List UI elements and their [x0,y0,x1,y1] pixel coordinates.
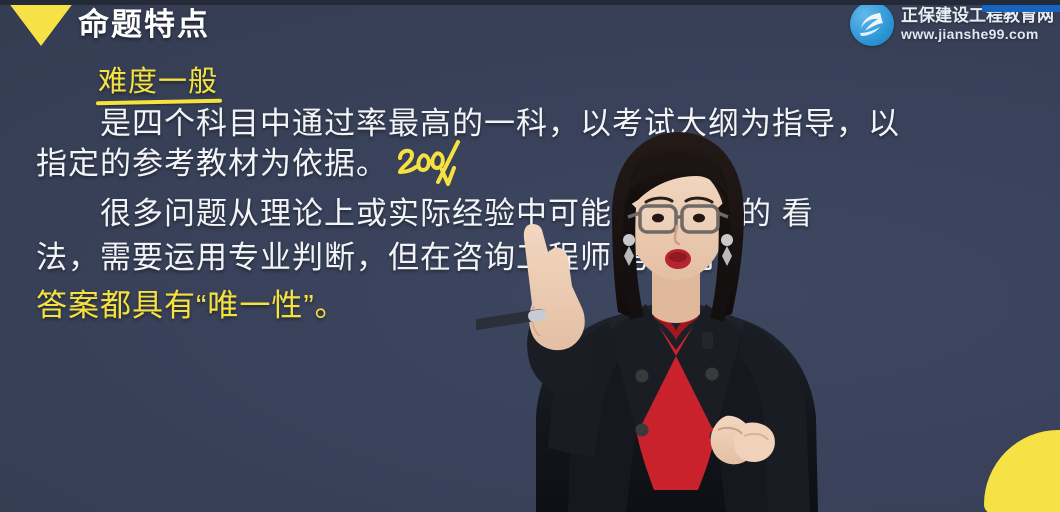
section-heading: 难度一般 [98,62,218,102]
brand-url: www.jianshe99.com [901,27,1054,42]
lecture-slide: 命题特点 正保建设工程教育网 www.jianshe99.com 难度一般 是四… [0,0,1060,512]
swoosh-logo-icon [850,2,894,46]
page-title: 命题特点 [78,4,210,46]
body-line-5-highlight: 答案都具有“唯一性”。 [36,286,347,326]
top-band [0,0,1060,5]
presenter-video-overlay [476,118,876,512]
yellow-triangle-icon [8,2,74,46]
slide-header: 命题特点 正保建设工程教育网 www.jianshe99.com [0,0,1060,52]
yellow-corner-wedge-icon [984,430,1060,512]
body-line-2: 指定的参考教材为依据。 [36,144,388,184]
